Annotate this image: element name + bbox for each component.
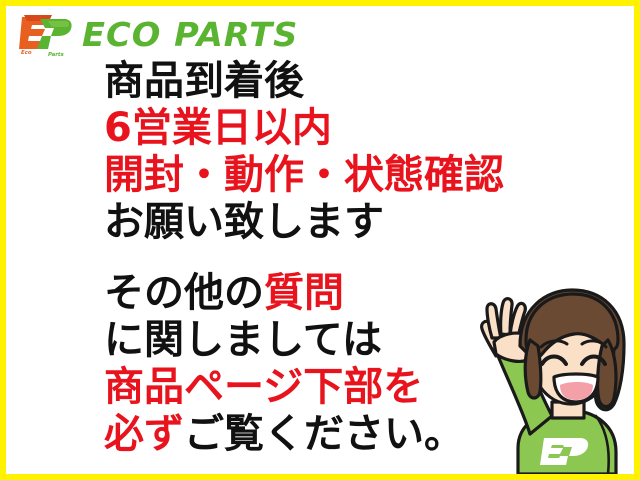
message-line-8-black: ご覧ください。 <box>184 411 464 457</box>
banner-border-left <box>0 0 6 480</box>
banner-border-right <box>634 0 640 480</box>
brand-wordmark: ECO PARTS <box>82 18 298 51</box>
svg-text:Eco: Eco <box>21 50 32 56</box>
svg-text:Parts: Parts <box>48 52 64 57</box>
banner-border-top <box>0 0 640 6</box>
eco-parts-ep-monogram-icon: Eco Parts <box>18 11 74 57</box>
message-line-8-red: 必ず <box>104 411 184 457</box>
brand-header: Eco Parts ECO PARTS <box>18 10 294 58</box>
message-line-4: お願い致します <box>104 199 564 246</box>
message-paragraph-gap <box>104 246 564 270</box>
message-line-3: 開封・動作・状態確認 <box>104 152 564 199</box>
eco-parts-notice-banner: Eco Parts ECO PARTS 商品到着後 6営業日以内 開封・動作・状… <box>0 0 640 480</box>
banner-border-bottom <box>0 474 640 480</box>
message-line-5-red: 質問 <box>264 270 344 316</box>
message-line-5-black: その他の <box>104 270 264 316</box>
smiling-woman-waving-illustration <box>456 282 634 474</box>
message-line-2: 6営業日以内 <box>104 105 564 152</box>
message-line-1: 商品到着後 <box>104 58 564 105</box>
